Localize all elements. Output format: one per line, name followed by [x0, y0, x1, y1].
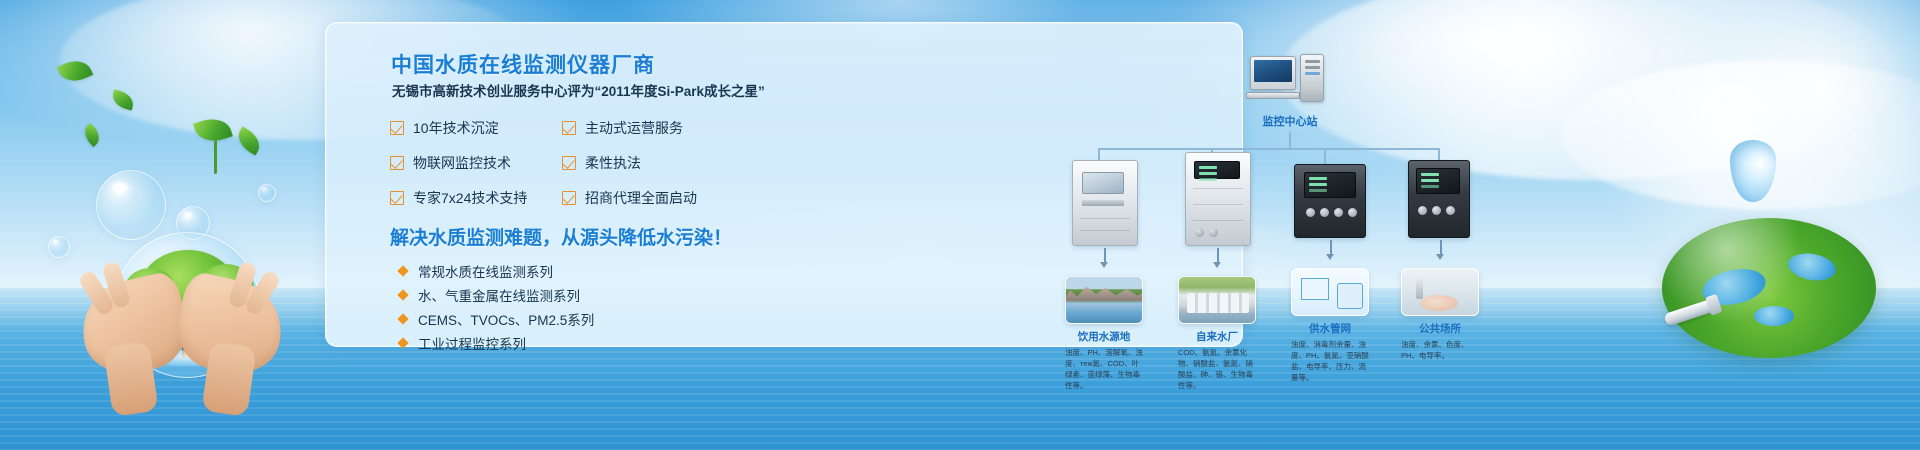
page-title: 中国水质在线监测仪器厂商: [391, 49, 655, 79]
diamond-bullet-icon: [397, 313, 408, 324]
arrow-down-icon: [1326, 254, 1334, 260]
list-item[interactable]: CEMS、TVOCs、PM2.5系列: [399, 307, 594, 331]
feature-label: 招商代理全面启动: [585, 188, 697, 208]
list-item[interactable]: 水、气重金属在线监测系列: [399, 283, 594, 307]
scenario-description: 浊度、余氯、色度、PH、电导率。: [1401, 340, 1479, 362]
lake-shape: [1754, 306, 1794, 326]
computer-tower-icon: [1300, 54, 1324, 102]
bubble: [258, 184, 276, 202]
rack-seam: [1193, 188, 1243, 189]
scenario-card[interactable]: 供水管网 浊度、消毒剂余量、浊度、PH、氨氮、亚硝酸盐、电导率、压力、流量等。: [1291, 268, 1369, 384]
list-item-label: 常规水质在线监测系列: [418, 261, 553, 281]
computer-monitor-icon: [1250, 56, 1296, 90]
instrument-controller-tall[interactable]: [1408, 160, 1470, 238]
arrow-down-icon: [1100, 262, 1108, 268]
cabinet-seam: [1080, 230, 1130, 231]
scenario-title: 公共场所: [1401, 321, 1479, 336]
list-item-label: 水、气重金属在线监测系列: [418, 285, 580, 305]
center-station-label: 监控中心站: [1216, 113, 1364, 129]
feature-label: 物联网监控技术: [413, 153, 511, 173]
controller-display: [1304, 172, 1356, 198]
feature-label: 柔性执法: [585, 153, 641, 173]
instrument-cabinet-analyzer[interactable]: [1072, 160, 1138, 246]
controller-buttons[interactable]: [1418, 206, 1455, 215]
cabinet-window: [1082, 172, 1124, 194]
feature-item[interactable]: 招商代理全面启动: [562, 188, 697, 208]
water-droplet-icon: [1730, 140, 1776, 202]
instrument-controller-wide[interactable]: [1294, 164, 1366, 238]
content-panel: 中国水质在线监测仪器厂商 无锡市高新技术创业服务中心评为“2011年度Si-Pa…: [325, 22, 1243, 347]
monitoring-center-station-icon: [1250, 56, 1330, 108]
diamond-bullet-icon: [397, 265, 408, 276]
diamond-bullet-icon: [397, 289, 408, 300]
diamond-bullet-icon: [397, 337, 408, 348]
scenario-card[interactable]: 公共场所 浊度、余氯、色度、PH、电导率。: [1401, 268, 1479, 362]
scenario-description: COD、氨氮、余氯化物、硝酸盐、氨氮、硝酸盐、砷、铬、生物毒性等。: [1178, 348, 1256, 392]
bubble: [48, 236, 70, 258]
green-globe-illustration: [1662, 218, 1876, 358]
arrow-down-icon: [1213, 262, 1221, 268]
scenario-card[interactable]: 饮用水源地 浊度、PH、溶解氧、浊度、теж氮、COD、叶绿素、蓝绿藻、生物毒性…: [1065, 276, 1143, 392]
arrow-down-icon: [1436, 254, 1444, 260]
checkbox-checked-icon: [562, 191, 576, 205]
feature-item[interactable]: 物联网监控技术: [390, 153, 562, 173]
scenario-thumbnail-supply-network: [1291, 268, 1369, 316]
checkbox-checked-icon: [562, 121, 576, 135]
feature-item[interactable]: 柔性执法: [562, 153, 697, 173]
promo-banner: 中国水质在线监测仪器厂商 无锡市高新技术创业服务中心评为“2011年度Si-Pa…: [0, 0, 1920, 450]
keyboard-icon: [1246, 92, 1300, 99]
section-headline: 解决水质监测难题，从源头降低水污染！: [390, 223, 732, 250]
list-item[interactable]: 常规水质在线监测系列: [399, 259, 594, 283]
feature-label: 主动式运营服务: [585, 118, 683, 138]
scenario-thumbnail-public-place: [1401, 268, 1479, 316]
connector-bus: [1098, 148, 1438, 150]
instrument-rack-analyzer[interactable]: [1185, 152, 1251, 246]
scenario-description: 浊度、消毒剂余量、浊度、PH、氨氮、亚硝酸盐、电导率、压力、流量等。: [1291, 340, 1369, 384]
scenario-title: 饮用水源地: [1065, 329, 1143, 344]
cabinet-seam: [1080, 218, 1130, 219]
cabinet-strip: [1082, 200, 1124, 206]
checkbox-checked-icon: [562, 156, 576, 170]
scenario-thumbnail-water-plant: [1178, 276, 1256, 324]
feature-item[interactable]: 10年技术沉淀: [390, 118, 562, 138]
feature-item[interactable]: 主动式运营服务: [562, 118, 697, 138]
hands-holding-tree-illustration: [78, 218, 298, 393]
feature-item[interactable]: 专家7x24技术支持: [390, 188, 562, 208]
checkbox-checked-icon: [390, 156, 404, 170]
scenario-description: 浊度、PH、溶解氧、浊度、теж氮、COD、叶绿素、蓝绿藻、生物毒性等。: [1065, 348, 1143, 392]
globe-sphere: [1662, 218, 1876, 358]
page-subtitle: 无锡市高新技术创业服务中心评为“2011年度Si-Park成长之星”: [392, 80, 765, 100]
product-series-list: 常规水质在线监测系列 水、气重金属在线监测系列 CEMS、TVOCs、PM2.5…: [399, 259, 594, 355]
rack-seam: [1193, 204, 1243, 205]
checkbox-checked-icon: [390, 121, 404, 135]
system-architecture-diagram: 监控中心站: [1056, 48, 1506, 358]
connector-line: [1289, 132, 1291, 148]
feature-label: 10年技术沉淀: [413, 118, 499, 138]
feature-label: 专家7x24技术支持: [413, 188, 527, 208]
rack-indicator-lights: [1195, 228, 1218, 237]
leaf-stem: [214, 140, 217, 174]
rack-display: [1194, 161, 1240, 179]
scenario-card[interactable]: 自来水厂 COD、氨氮、余氯化物、硝酸盐、氨氮、硝酸盐、砷、铬、生物毒性等。: [1178, 276, 1256, 392]
list-item-label: 工业过程监控系列: [418, 333, 526, 353]
controller-buttons[interactable]: [1306, 208, 1357, 217]
scenario-title: 供水管网: [1291, 321, 1369, 336]
scenario-thumbnail-drinking-water-source: [1065, 276, 1143, 324]
rack-seam: [1193, 220, 1243, 221]
list-item[interactable]: 工业过程监控系列: [399, 331, 594, 355]
controller-display: [1416, 168, 1460, 194]
scenario-title: 自来水厂: [1178, 329, 1256, 344]
left-wrist: [103, 341, 158, 417]
list-item-label: CEMS、TVOCs、PM2.5系列: [418, 309, 594, 329]
feature-checklist: 10年技术沉淀 主动式运营服务 物联网监控技术 柔性执法 专家7x24技术支持 …: [390, 118, 697, 208]
checkbox-checked-icon: [390, 191, 404, 205]
